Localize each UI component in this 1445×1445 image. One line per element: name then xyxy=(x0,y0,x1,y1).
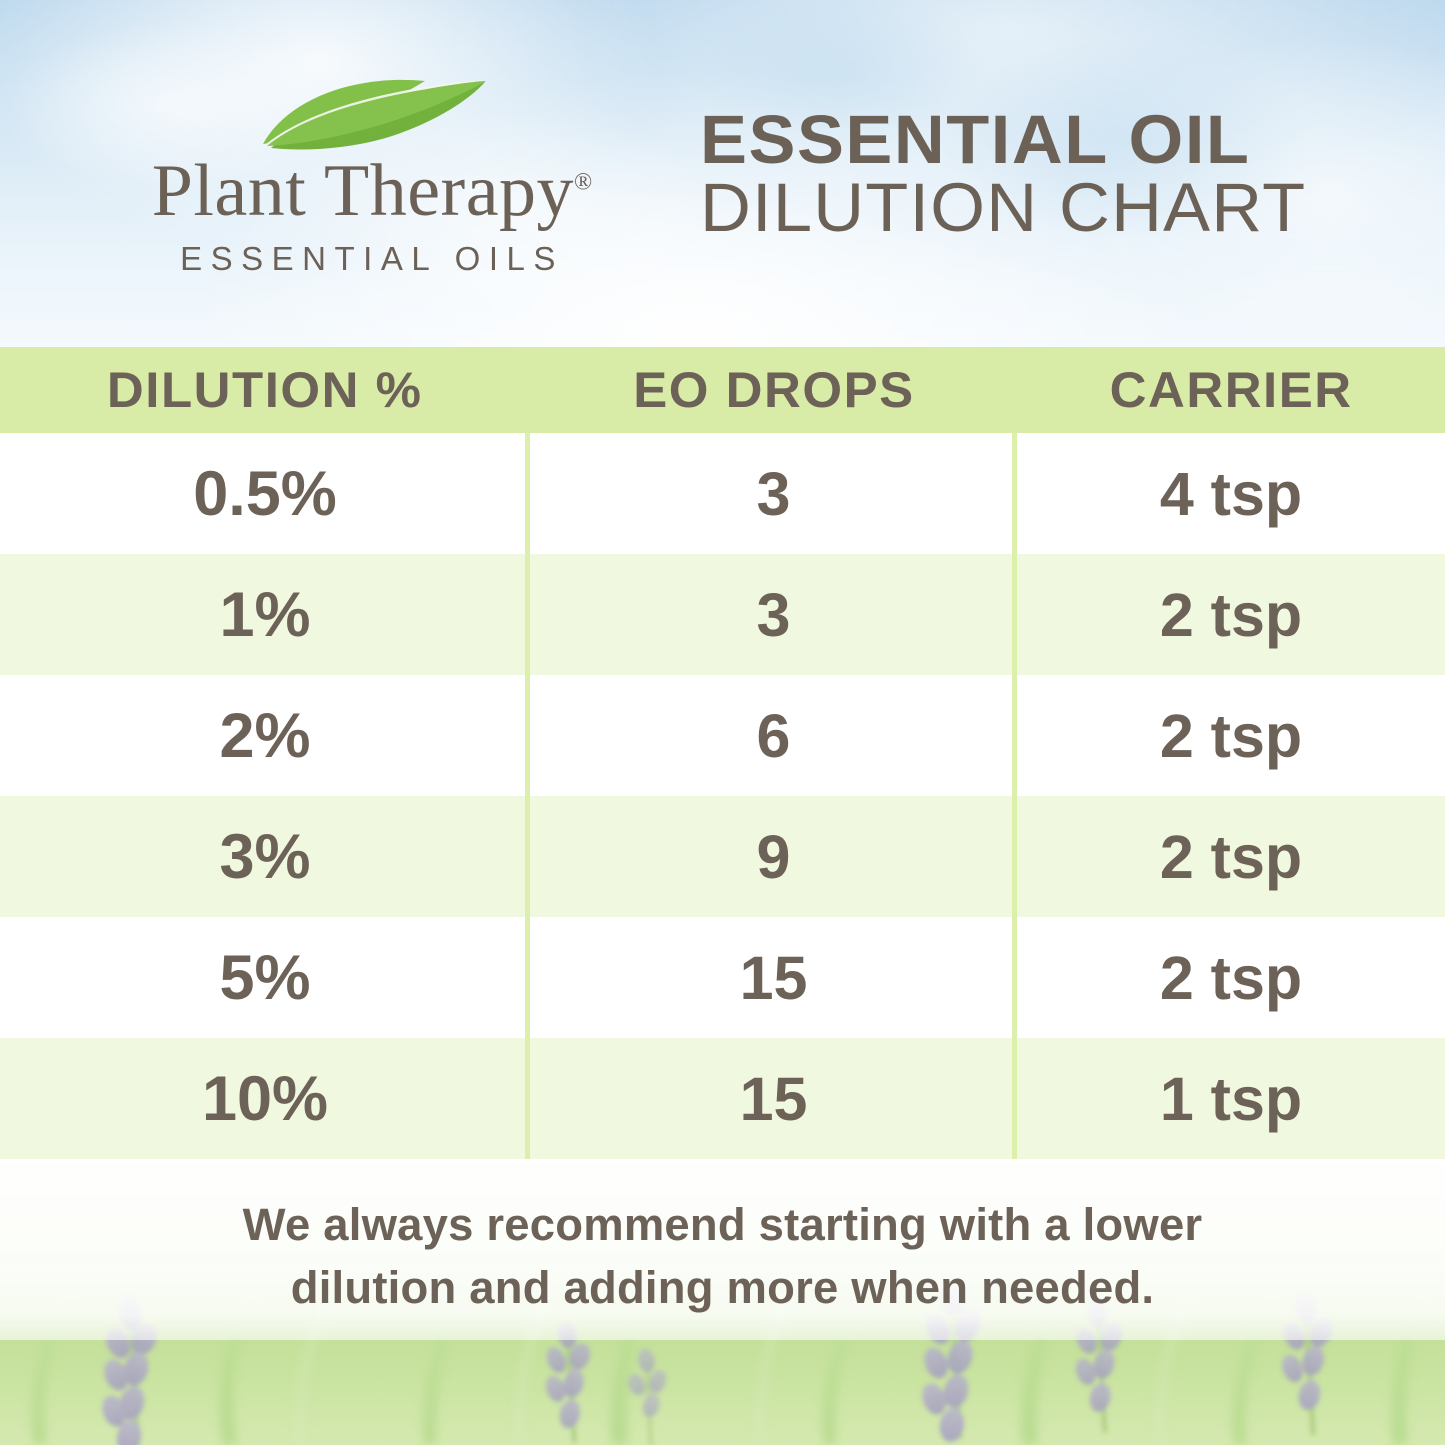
cell-dilution-value: 3% xyxy=(219,821,310,893)
cell-carrier-value: 2 tsp xyxy=(1160,943,1302,1013)
cell-carrier: 1 tsp xyxy=(1017,1038,1445,1159)
cell-carrier-value: 1 tsp xyxy=(1160,1064,1302,1134)
table-row: 2% 6 2 tsp xyxy=(0,675,1445,796)
dilution-chart-page: Plant Therapy® ESSENTIAL OILS ESSENTIAL … xyxy=(0,0,1445,1445)
column-header-carrier: CARRIER xyxy=(1017,347,1445,433)
table-row: 5% 15 2 tsp xyxy=(0,917,1445,1038)
cell-dilution-value: 10% xyxy=(202,1063,328,1135)
footer-note-line2: dilution and adding more when needed. xyxy=(0,1256,1445,1319)
cell-drops-value: 15 xyxy=(740,1064,808,1134)
brand-name-text: Plant Therapy xyxy=(152,150,574,232)
cell-drops: 6 xyxy=(530,675,1017,796)
cell-carrier-value: 2 tsp xyxy=(1160,580,1302,650)
cell-carrier: 2 tsp xyxy=(1017,675,1445,796)
cell-drops-value: 6 xyxy=(757,701,791,771)
brand-name: Plant Therapy® xyxy=(92,154,652,228)
cell-dilution-value: 0.5% xyxy=(193,458,337,530)
brand-logo: Plant Therapy® ESSENTIAL OILS xyxy=(92,78,652,278)
page-title-line1: ESSENTIAL OIL xyxy=(700,108,1394,173)
cell-carrier: 2 tsp xyxy=(1017,796,1445,917)
cell-dilution: 10% xyxy=(0,1038,530,1159)
table-header-row: DILUTION % EO DROPS CARRIER xyxy=(0,347,1445,433)
column-header-dilution-label: DILUTION % xyxy=(107,361,423,419)
cell-carrier-value: 2 tsp xyxy=(1160,701,1302,771)
brand-tagline: ESSENTIAL OILS xyxy=(92,240,652,278)
cell-carrier: 2 tsp xyxy=(1017,917,1445,1038)
cell-dilution-value: 5% xyxy=(219,942,310,1014)
table-row: 3% 9 2 tsp xyxy=(0,796,1445,917)
page-title: ESSENTIAL OIL DILUTION CHART xyxy=(700,108,1380,243)
cell-carrier: 4 tsp xyxy=(1017,433,1445,554)
registered-mark: ® xyxy=(574,169,592,195)
table-row: 0.5% 3 4 tsp xyxy=(0,433,1445,554)
cell-drops: 15 xyxy=(530,1038,1017,1159)
cell-drops-value: 9 xyxy=(757,822,791,892)
dilution-table: DILUTION % EO DROPS CARRIER 0.5% 3 4 tsp… xyxy=(0,347,1445,1159)
cell-drops-value: 3 xyxy=(757,580,791,650)
cell-dilution-value: 2% xyxy=(219,700,310,772)
cell-dilution: 3% xyxy=(0,796,530,917)
column-header-drops: EO DROPS xyxy=(530,347,1017,433)
table-row: 10% 15 1 tsp xyxy=(0,1038,1445,1159)
column-header-drops-label: EO DROPS xyxy=(633,361,914,419)
cell-dilution: 0.5% xyxy=(0,433,530,554)
column-header-dilution: DILUTION % xyxy=(0,347,530,433)
cell-drops-value: 3 xyxy=(757,459,791,529)
cell-dilution: 1% xyxy=(0,554,530,675)
cell-dilution-value: 1% xyxy=(219,579,310,651)
lavender-field-photo: We always recommend starting with a lowe… xyxy=(0,1163,1445,1445)
cell-carrier: 2 tsp xyxy=(1017,554,1445,675)
leaf-icon-wrap xyxy=(92,78,652,152)
leaf-icon xyxy=(257,78,487,152)
cell-drops: 3 xyxy=(530,554,1017,675)
cell-drops: 9 xyxy=(530,796,1017,917)
cell-dilution: 2% xyxy=(0,675,530,796)
cell-carrier-value: 2 tsp xyxy=(1160,822,1302,892)
page-title-line2: DILUTION CHART xyxy=(700,173,1394,243)
footer-note-line1: We always recommend starting with a lowe… xyxy=(0,1193,1445,1256)
column-header-carrier-label: CARRIER xyxy=(1109,361,1352,419)
table-row: 1% 3 2 tsp xyxy=(0,554,1445,675)
cell-dilution: 5% xyxy=(0,917,530,1038)
footer-note: We always recommend starting with a lowe… xyxy=(0,1193,1445,1319)
cell-drops: 3 xyxy=(530,433,1017,554)
cell-drops: 15 xyxy=(530,917,1017,1038)
cell-drops-value: 15 xyxy=(740,943,808,1013)
cell-carrier-value: 4 tsp xyxy=(1160,459,1302,529)
